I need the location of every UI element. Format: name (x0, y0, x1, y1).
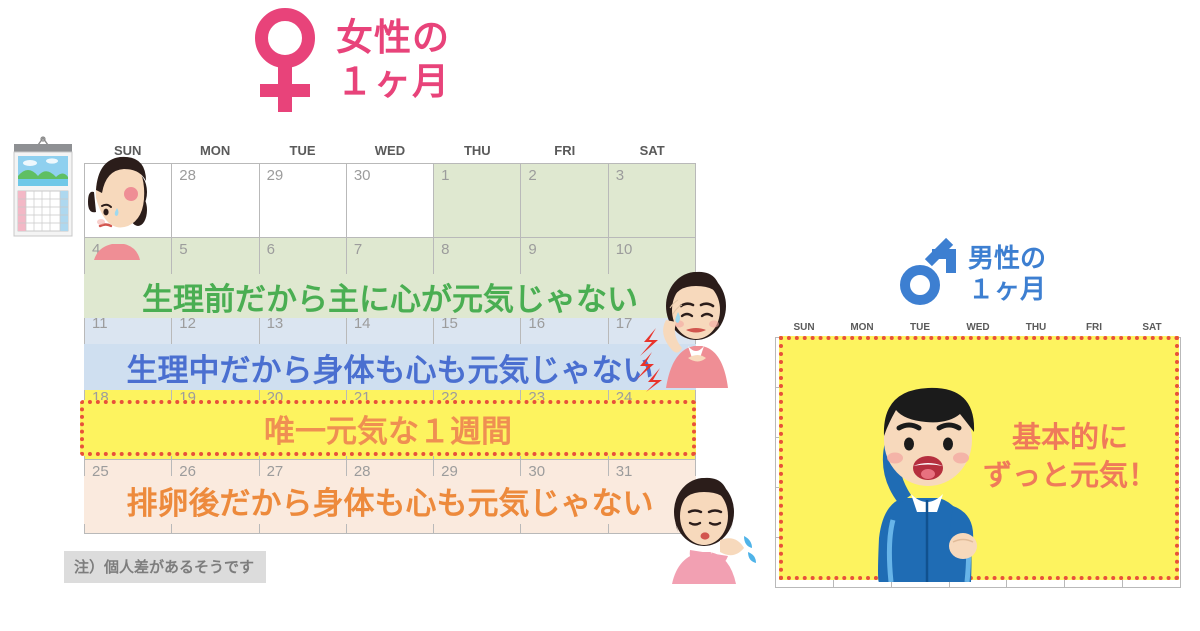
weekday-sun: SUN (775, 322, 833, 337)
wall-calendar-illustration (8, 136, 78, 240)
weekday-fri: FRI (1065, 322, 1123, 337)
day-number: 30 (354, 167, 371, 184)
sad-woman-illustration (658, 466, 762, 584)
calendar-day-cell[interactable]: 3 (609, 164, 696, 238)
banner-good-week: 唯一元気な１週間 (80, 400, 696, 456)
day-number: 2 (528, 167, 536, 184)
banner-post-ovulation: 排卵後だから身体も心も元気じゃない (84, 476, 696, 524)
cheering-boy-illustration (855, 370, 1005, 582)
banner-pms: 生理前だから主に心が元気じゃない (84, 274, 696, 318)
day-number: 6 (267, 241, 275, 258)
weekday-wed: WED (346, 143, 433, 163)
day-number: 3 (616, 167, 624, 184)
calendar-day-cell[interactable]: 28 (172, 164, 259, 238)
worried-woman-illustration (76, 152, 162, 260)
weekday-tue: TUE (259, 143, 346, 163)
infographic-root: 女性の １ヶ月 SUN (0, 0, 1200, 631)
day-number: 1 (441, 167, 449, 184)
woman-in-pain-illustration (648, 262, 744, 388)
female-title-text: 女性の １ヶ月 (336, 16, 450, 103)
weekday-wed: WED (949, 322, 1007, 337)
female-title-block: 女性の １ヶ月 (252, 8, 450, 112)
calendar-day-cell[interactable]: 1 (434, 164, 521, 238)
footnote-text: 注）個人差があるそうです (64, 551, 266, 583)
weekday-thu: THU (1007, 322, 1065, 337)
male-calendar-weekday-header: SUN MON TUE WED THU FRI SAT (775, 322, 1181, 337)
day-number: 7 (354, 241, 362, 258)
day-number: 10 (616, 241, 633, 258)
calendar-week-row: 28 29 30 1 2 3 (85, 164, 696, 238)
weekday-fri: FRI (521, 143, 608, 163)
calendar-day-cell[interactable]: 30 (347, 164, 434, 238)
weekday-mon: MON (171, 143, 258, 163)
weekday-tue: TUE (891, 322, 949, 337)
weekday-thu: THU (434, 143, 521, 163)
male-banner-text: 基本的に ずっと元気！ (983, 420, 1175, 495)
male-title-text: 男性の １ヶ月 (968, 243, 1046, 305)
banner-period: 生理中だから身体も心も元気じゃない (84, 344, 696, 390)
calendar-day-cell[interactable]: 29 (260, 164, 347, 238)
female-calendar-weekday-header: SUN MON TUE WED THU FRI SAT (84, 143, 696, 163)
day-number: 9 (528, 241, 536, 258)
mars-symbol-icon (900, 249, 956, 305)
calendar-day-cell[interactable]: 2 (521, 164, 608, 238)
male-title-block: 男性の １ヶ月 (900, 243, 1046, 305)
day-number: 28 (179, 167, 196, 184)
weekday-sat: SAT (1123, 322, 1181, 337)
day-number: 5 (179, 241, 187, 258)
day-number: 8 (441, 241, 449, 258)
venus-symbol-icon (252, 8, 318, 112)
weekday-sat: SAT (608, 143, 695, 163)
weekday-mon: MON (833, 322, 891, 337)
day-number: 29 (267, 167, 284, 184)
